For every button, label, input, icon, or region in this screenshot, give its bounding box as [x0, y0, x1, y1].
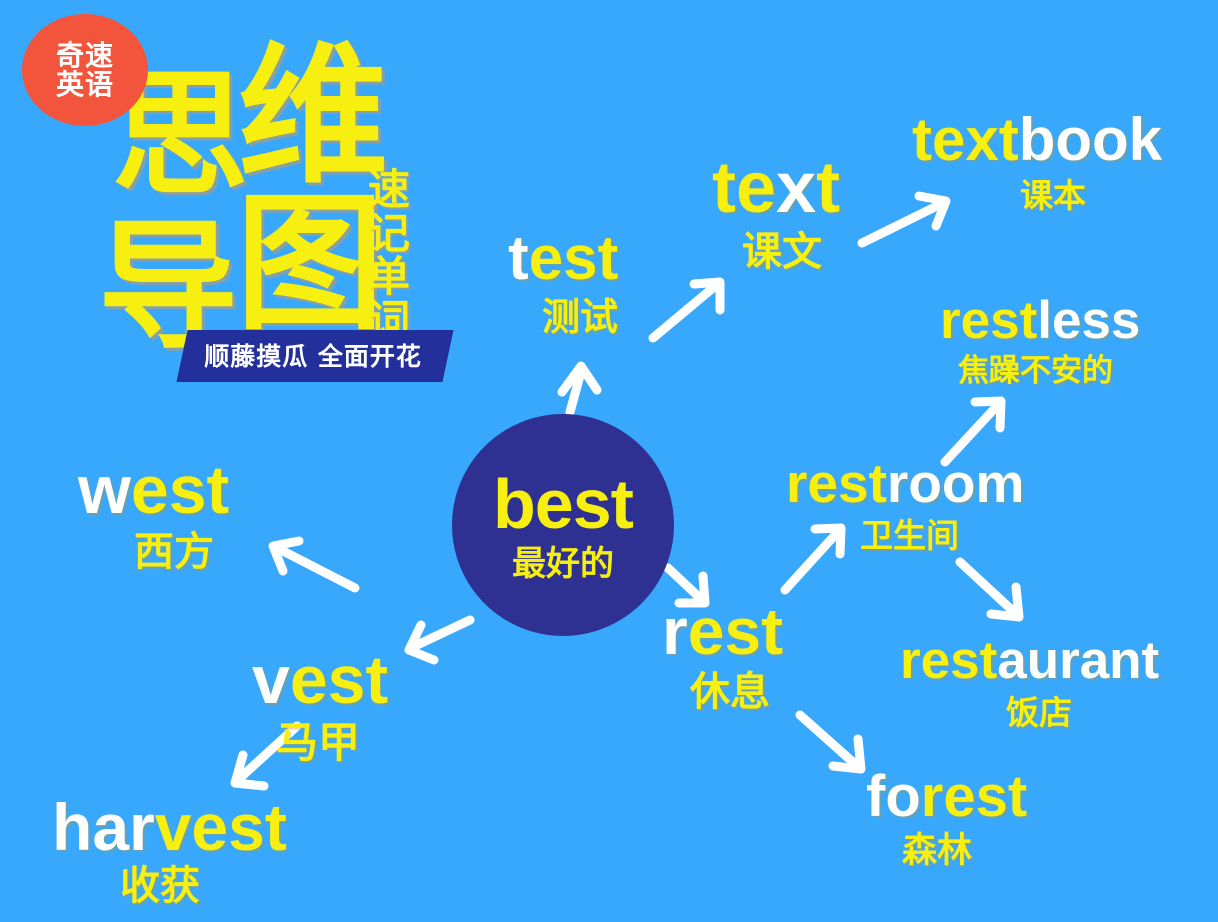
brand-badge: 奇速 英语	[22, 14, 148, 126]
vertical-subtitle: 速记单词	[366, 168, 412, 343]
arrow-best-to-west	[273, 541, 355, 588]
node-restaurant[interactable]: restaurant 饭店	[900, 634, 1159, 729]
node-test-stem: est	[529, 224, 619, 293]
node-harvest-meaning: 收获	[120, 866, 287, 906]
node-forest-meaning: 森林	[902, 834, 1027, 869]
node-harvest-stem: vest	[155, 790, 287, 864]
node-text[interactable]: text 课文	[712, 152, 840, 272]
tagline-text: 顺藤摸瓜 全面开花	[204, 337, 422, 373]
node-text-stem: x	[776, 148, 816, 228]
node-textbook-prefix: text	[912, 106, 1019, 173]
node-restaurant-meaning: 饭店	[1006, 696, 1159, 729]
node-restroom-prefix: rest	[786, 452, 887, 514]
mindmap-poster: 奇速 英语 思 维 导 图 速记单词 顺藤摸瓜 全面开花 .ar { strok…	[0, 0, 1218, 922]
arrow-best-to-test	[562, 366, 597, 412]
node-best-word: best	[493, 469, 633, 539]
node-rest[interactable]: rest 休息	[662, 598, 783, 712]
node-restroom-stem: room	[887, 452, 1025, 514]
node-restroom[interactable]: restroom 卫生间	[786, 456, 1024, 552]
node-restaurant-stem: aurant	[997, 631, 1159, 690]
node-vest-prefix: v	[252, 642, 290, 718]
node-restless-meaning: 焦躁不安的	[958, 356, 1140, 387]
node-west-stem: est	[131, 452, 229, 528]
node-west-meaning: 西方	[134, 532, 229, 572]
brand-badge-line1: 奇速	[56, 41, 114, 70]
node-west[interactable]: west 西方	[78, 456, 229, 572]
node-best-meaning: 最好的	[512, 547, 614, 581]
tagline-banner: 顺藤摸瓜 全面开花	[176, 330, 453, 382]
node-harvest-prefix: har	[52, 790, 155, 864]
node-restaurant-prefix: rest	[900, 631, 997, 690]
node-forest-prefix: fo	[866, 764, 921, 829]
node-text-meaning: 课文	[742, 232, 840, 272]
arrow-restroom-to-restaurant	[960, 562, 1019, 617]
node-harvest[interactable]: harvest 收获	[52, 794, 287, 906]
node-test[interactable]: test 测试	[508, 228, 618, 336]
arrow-test-to-text	[653, 282, 720, 338]
node-rest-stem: est	[688, 594, 783, 668]
node-text-suffix: t	[816, 148, 840, 228]
node-forest-stem: rest	[921, 764, 1027, 829]
node-vest-meaning: 马甲	[276, 722, 388, 764]
node-test-prefix: t	[508, 224, 529, 293]
node-restless-prefix: rest	[940, 291, 1037, 350]
title-char-4: 图	[236, 190, 384, 338]
node-forest[interactable]: forest 森林	[866, 768, 1027, 869]
arrow-best-to-vest	[409, 620, 470, 660]
node-textbook-meaning: 课本	[1020, 179, 1162, 212]
node-vest-stem: est	[290, 642, 388, 718]
node-restless-stem: less	[1037, 291, 1140, 350]
arrow-rest-to-forest	[800, 715, 861, 769]
node-text-prefix: te	[712, 148, 776, 228]
brand-logo-block: 奇速 英语 思 维 导 图 速记单词 顺藤摸瓜 全面开花	[0, 0, 470, 400]
node-restroom-meaning: 卫生间	[860, 519, 1024, 552]
node-west-prefix: w	[78, 452, 131, 528]
node-rest-meaning: 休息	[690, 672, 783, 712]
node-vest[interactable]: vest 马甲	[252, 646, 388, 764]
node-rest-prefix: r	[662, 594, 688, 668]
node-best[interactable]: best 最好的	[452, 414, 674, 636]
node-textbook-stem: book	[1019, 106, 1162, 173]
brand-badge-line2: 英语	[56, 70, 114, 99]
node-textbook[interactable]: textbook 课本	[912, 110, 1162, 212]
node-test-meaning: 测试	[542, 298, 618, 336]
node-restless[interactable]: restless 焦躁不安的	[940, 294, 1140, 387]
